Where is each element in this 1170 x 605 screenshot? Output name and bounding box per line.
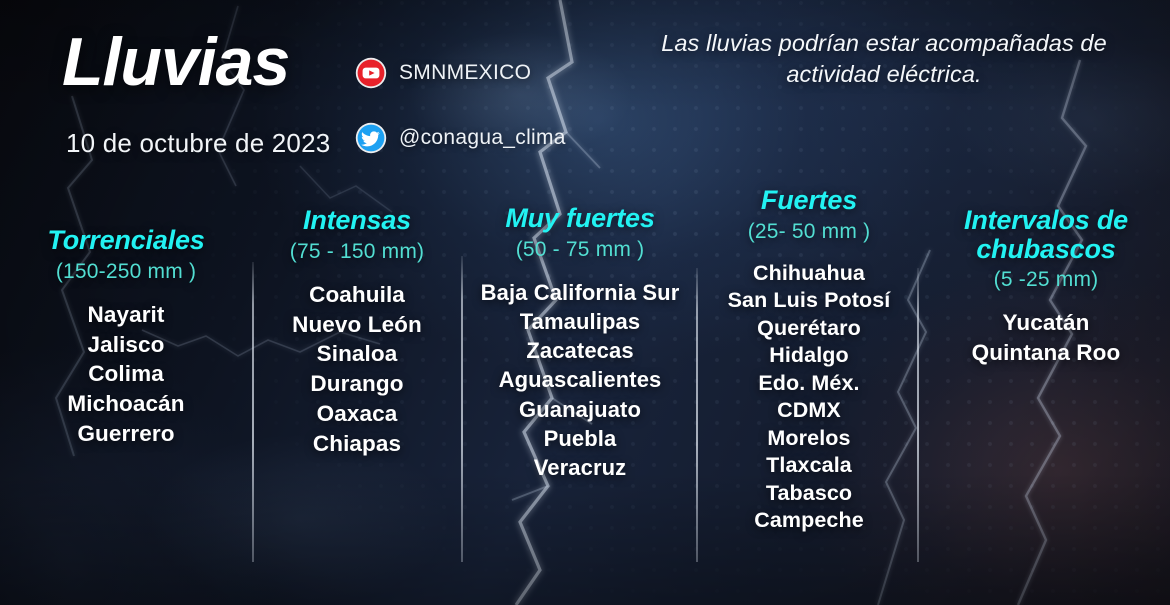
state-list: Coahuila Nuevo León Sinaloa Durango Oaxa… bbox=[262, 280, 452, 460]
column-divider bbox=[696, 268, 698, 562]
rain-intensity-columns: Torrenciales (150-250 mm ) Nayarit Jalis… bbox=[0, 178, 1170, 578]
rain-category-muy-fuertes: Muy fuertes (50 - 75 mm ) Baja Californi… bbox=[472, 204, 688, 482]
state-item: Nuevo León bbox=[262, 310, 452, 340]
category-range: (150-250 mm ) bbox=[18, 260, 234, 284]
column-divider bbox=[461, 256, 463, 562]
rain-category-intervalos-de-chubascos: Intervalos de chubascos (5 -25 mm) Yucat… bbox=[932, 206, 1160, 368]
state-item: Guerrero bbox=[18, 419, 234, 449]
column-divider bbox=[252, 262, 254, 562]
state-item: Hidalgo bbox=[706, 342, 912, 370]
state-item: Aguascalientes bbox=[472, 365, 688, 394]
rain-category-torrenciales: Torrenciales (150-250 mm ) Nayarit Jalis… bbox=[18, 226, 234, 449]
state-item: Tlaxcala bbox=[706, 452, 912, 480]
state-item: Sinaloa bbox=[262, 339, 452, 369]
state-item: Tamaulipas bbox=[472, 307, 688, 336]
category-heading: Muy fuertes bbox=[472, 204, 688, 233]
state-item: Jalisco bbox=[18, 330, 234, 360]
category-heading: Intervalos de chubascos bbox=[932, 206, 1160, 263]
twitter-handle-label: @conagua_clima bbox=[399, 126, 566, 150]
state-item: Querétaro bbox=[706, 315, 912, 343]
rain-category-fuertes: Fuertes (25- 50 mm ) Chihuahua San Luis … bbox=[706, 186, 912, 535]
state-item: Nayarit bbox=[18, 300, 234, 330]
twitter-icon bbox=[355, 122, 387, 154]
state-item: San Luis Potosí bbox=[706, 287, 912, 315]
state-list: Chihuahua San Luis Potosí Querétaro Hida… bbox=[706, 260, 912, 535]
state-item: Chiapas bbox=[262, 429, 452, 459]
category-range: (75 - 150 mm) bbox=[262, 240, 452, 264]
state-item: Coahuila bbox=[262, 280, 452, 310]
state-item: Morelos bbox=[706, 425, 912, 453]
column-divider bbox=[917, 268, 919, 562]
state-item: Veracruz bbox=[472, 453, 688, 482]
state-item: Baja California Sur bbox=[472, 278, 688, 307]
category-range: (50 - 75 mm ) bbox=[472, 238, 688, 262]
state-item: CDMX bbox=[706, 397, 912, 425]
page-title: Lluvias bbox=[62, 28, 289, 96]
state-list: Yucatán Quintana Roo bbox=[932, 308, 1160, 368]
state-item: Quintana Roo bbox=[932, 338, 1160, 368]
infographic-canvas: Lluvias 10 de octubre de 2023 SMNMEXICO … bbox=[0, 0, 1170, 605]
category-range: (5 -25 mm) bbox=[932, 268, 1160, 292]
category-heading: Torrenciales bbox=[18, 226, 234, 255]
rain-category-intensas: Intensas (75 - 150 mm) Coahuila Nuevo Le… bbox=[262, 206, 452, 459]
state-list: Baja California Sur Tamaulipas Zacatecas… bbox=[472, 278, 688, 483]
state-item: Zacatecas bbox=[472, 336, 688, 365]
state-item: Edo. Méx. bbox=[706, 370, 912, 398]
state-item: Chihuahua bbox=[706, 260, 912, 288]
forecast-date: 10 de octubre de 2023 bbox=[66, 128, 330, 159]
tagline-text: Las lluvias podrían estar acompañadas de… bbox=[624, 28, 1144, 91]
state-item: Tabasco bbox=[706, 480, 912, 508]
state-item: Guanajuato bbox=[472, 395, 688, 424]
state-item: Campeche bbox=[706, 507, 912, 535]
category-heading: Fuertes bbox=[706, 186, 912, 215]
youtube-icon bbox=[355, 57, 387, 89]
state-item: Puebla bbox=[472, 424, 688, 453]
header: Lluvias 10 de octubre de 2023 SMNMEXICO … bbox=[0, 0, 1170, 180]
state-item: Michoacán bbox=[18, 389, 234, 419]
state-item: Oaxaca bbox=[262, 399, 452, 429]
state-item: Colima bbox=[18, 359, 234, 389]
category-range: (25- 50 mm ) bbox=[706, 220, 912, 244]
state-item: Durango bbox=[262, 369, 452, 399]
social-handle-youtube[interactable]: SMNMEXICO bbox=[355, 57, 531, 89]
state-item: Yucatán bbox=[932, 308, 1160, 338]
category-heading: Intensas bbox=[262, 206, 452, 235]
state-list: Nayarit Jalisco Colima Michoacán Guerrer… bbox=[18, 300, 234, 450]
social-handle-twitter[interactable]: @conagua_clima bbox=[355, 122, 566, 154]
youtube-handle-label: SMNMEXICO bbox=[399, 61, 531, 85]
